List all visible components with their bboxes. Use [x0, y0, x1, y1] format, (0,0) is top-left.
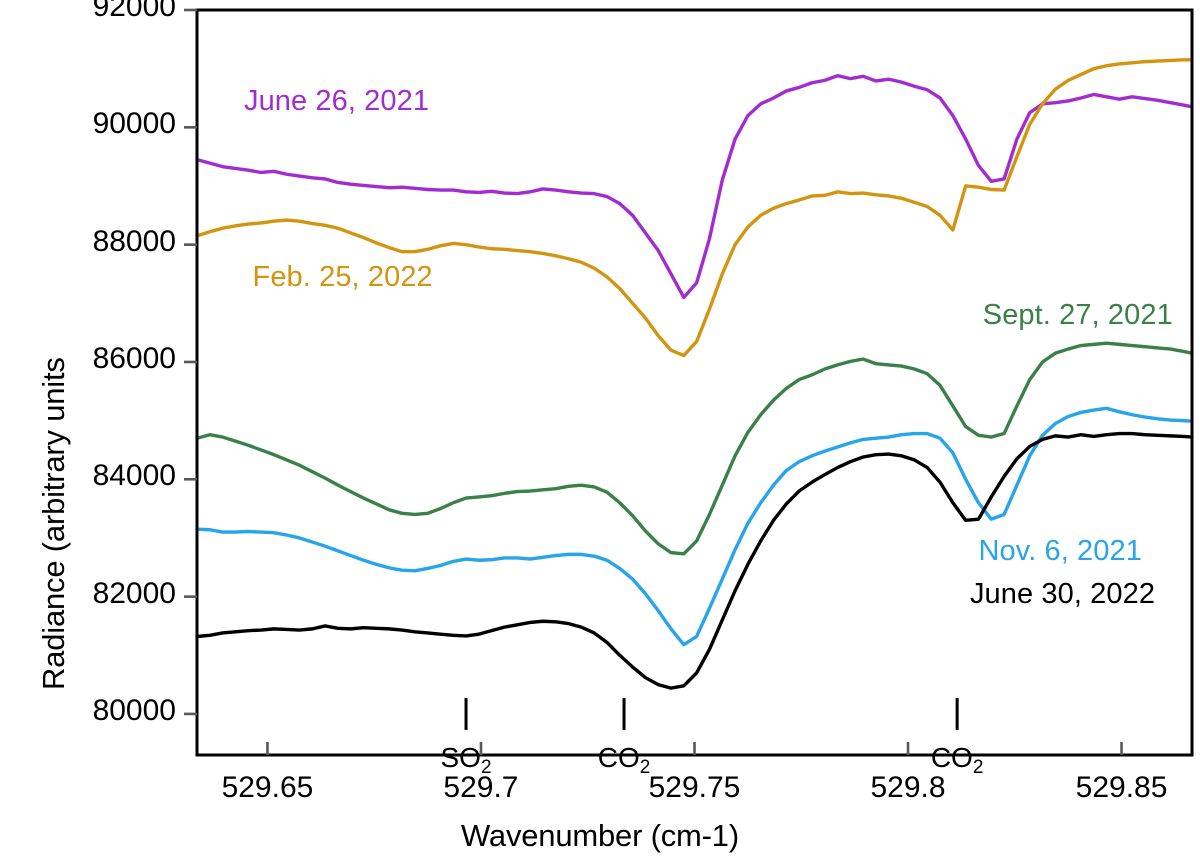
series-label-3: Sept. 27, 2021 [983, 299, 1173, 332]
y-axis-title: Radiance (arbitrary units [36, 357, 72, 690]
co2-marker-1-label-text: CO [598, 742, 640, 773]
series-label-2: Feb. 25, 2022 [253, 261, 433, 294]
co2-marker-1-label-subscript: 2 [640, 757, 651, 778]
x-tick-label-4: 529.85 [1022, 771, 1200, 805]
radiance-spectrum-figure: Radiance (arbitrary units Wavenumber (cm… [0, 0, 1200, 863]
plot-canvas [0, 0, 1200, 863]
x-tick-label-2: 529.75 [595, 771, 795, 805]
y-tick-label-3: 86000 [36, 342, 176, 376]
co2-marker-1-label: CO2 [564, 742, 684, 774]
x-tick-label-0: 529.65 [167, 771, 367, 805]
annotation-tick-layer [466, 698, 957, 730]
series-label-5: June 30, 2022 [970, 578, 1155, 611]
series-line-3 [197, 343, 1192, 554]
x-axis-title: Wavenumber (cm-1) [0, 818, 1200, 854]
co2-marker-2-label-subscript: 2 [973, 757, 984, 778]
series-label-1: June 26, 2021 [244, 85, 429, 118]
so2-marker-label-subscript: 2 [481, 757, 492, 778]
y-tick-label-4: 88000 [36, 225, 176, 259]
co2-marker-2-label-text: CO [931, 742, 973, 773]
y-tick-label-2: 84000 [36, 459, 176, 493]
y-tick-label-5: 90000 [36, 107, 176, 141]
y-tick-label-6: 92000 [36, 0, 176, 24]
series-label-4: Nov. 6, 2021 [978, 535, 1142, 568]
so2-marker-label: SO2 [406, 742, 526, 774]
co2-marker-2-label: CO2 [897, 742, 1017, 774]
y-tick-label-1: 82000 [36, 577, 176, 611]
y-tick-label-0: 80000 [36, 694, 176, 728]
plot-frame [197, 10, 1192, 755]
so2-marker-label-text: SO [441, 742, 481, 773]
